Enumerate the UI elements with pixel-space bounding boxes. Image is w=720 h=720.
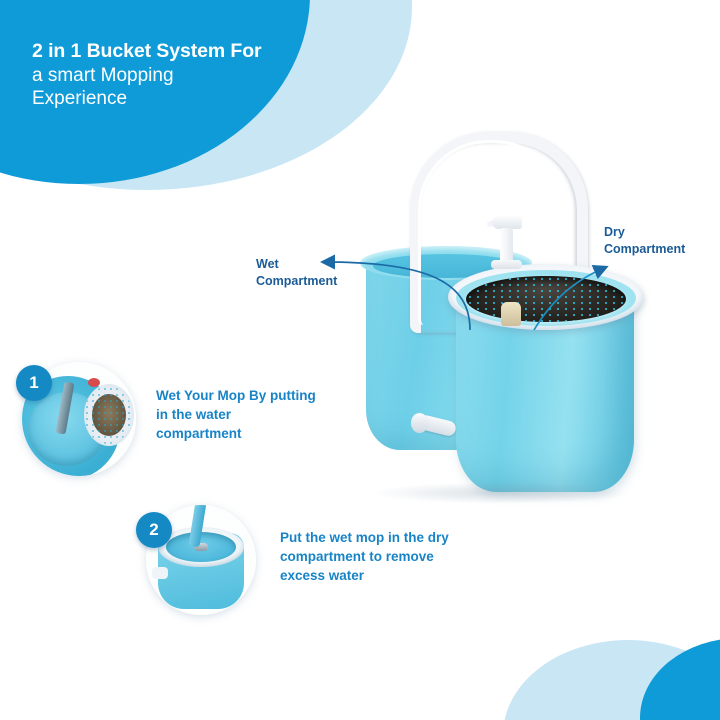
step-2-badge: 2 xyxy=(136,512,172,548)
drain-spout-knob xyxy=(411,413,428,433)
spinner-basket xyxy=(466,276,626,322)
title-line-3: Experience xyxy=(32,87,332,110)
title-line-1: 2 in 1 Bucket System For xyxy=(32,40,332,64)
soap-pump-base xyxy=(491,260,522,269)
step-1-text: Wet Your Mop By putting in the water com… xyxy=(156,386,316,443)
step-1-spinner-perforations xyxy=(84,386,132,444)
spinner-perforations xyxy=(466,276,626,322)
callout-dry-line-2: Compartment xyxy=(604,241,685,258)
product-ground-shadow xyxy=(370,482,632,504)
callout-dry-compartment: Dry Compartment xyxy=(604,224,685,257)
product-image-spin-mop-bucket xyxy=(360,130,660,510)
step-2-side-tab xyxy=(152,567,168,579)
step-1-red-knob xyxy=(88,378,100,387)
callout-wet-compartment: Wet Compartment xyxy=(256,256,337,289)
infographic-canvas: 2 in 1 Bucket System For a smart Mopping… xyxy=(0,0,720,720)
callout-wet-line-1: Wet xyxy=(256,256,337,273)
step-2-text: Put the wet mop in the dry compartment t… xyxy=(280,528,470,585)
title-line-2: a smart Mopping xyxy=(32,64,332,87)
soap-pump-body xyxy=(500,228,513,264)
spinner-hub xyxy=(501,302,521,326)
header-title: 2 in 1 Bucket System For a smart Mopping… xyxy=(32,40,332,110)
callout-dry-line-1: Dry xyxy=(604,224,685,241)
step-1-badge: 1 xyxy=(16,365,52,401)
callout-wet-line-2: Compartment xyxy=(256,273,337,290)
